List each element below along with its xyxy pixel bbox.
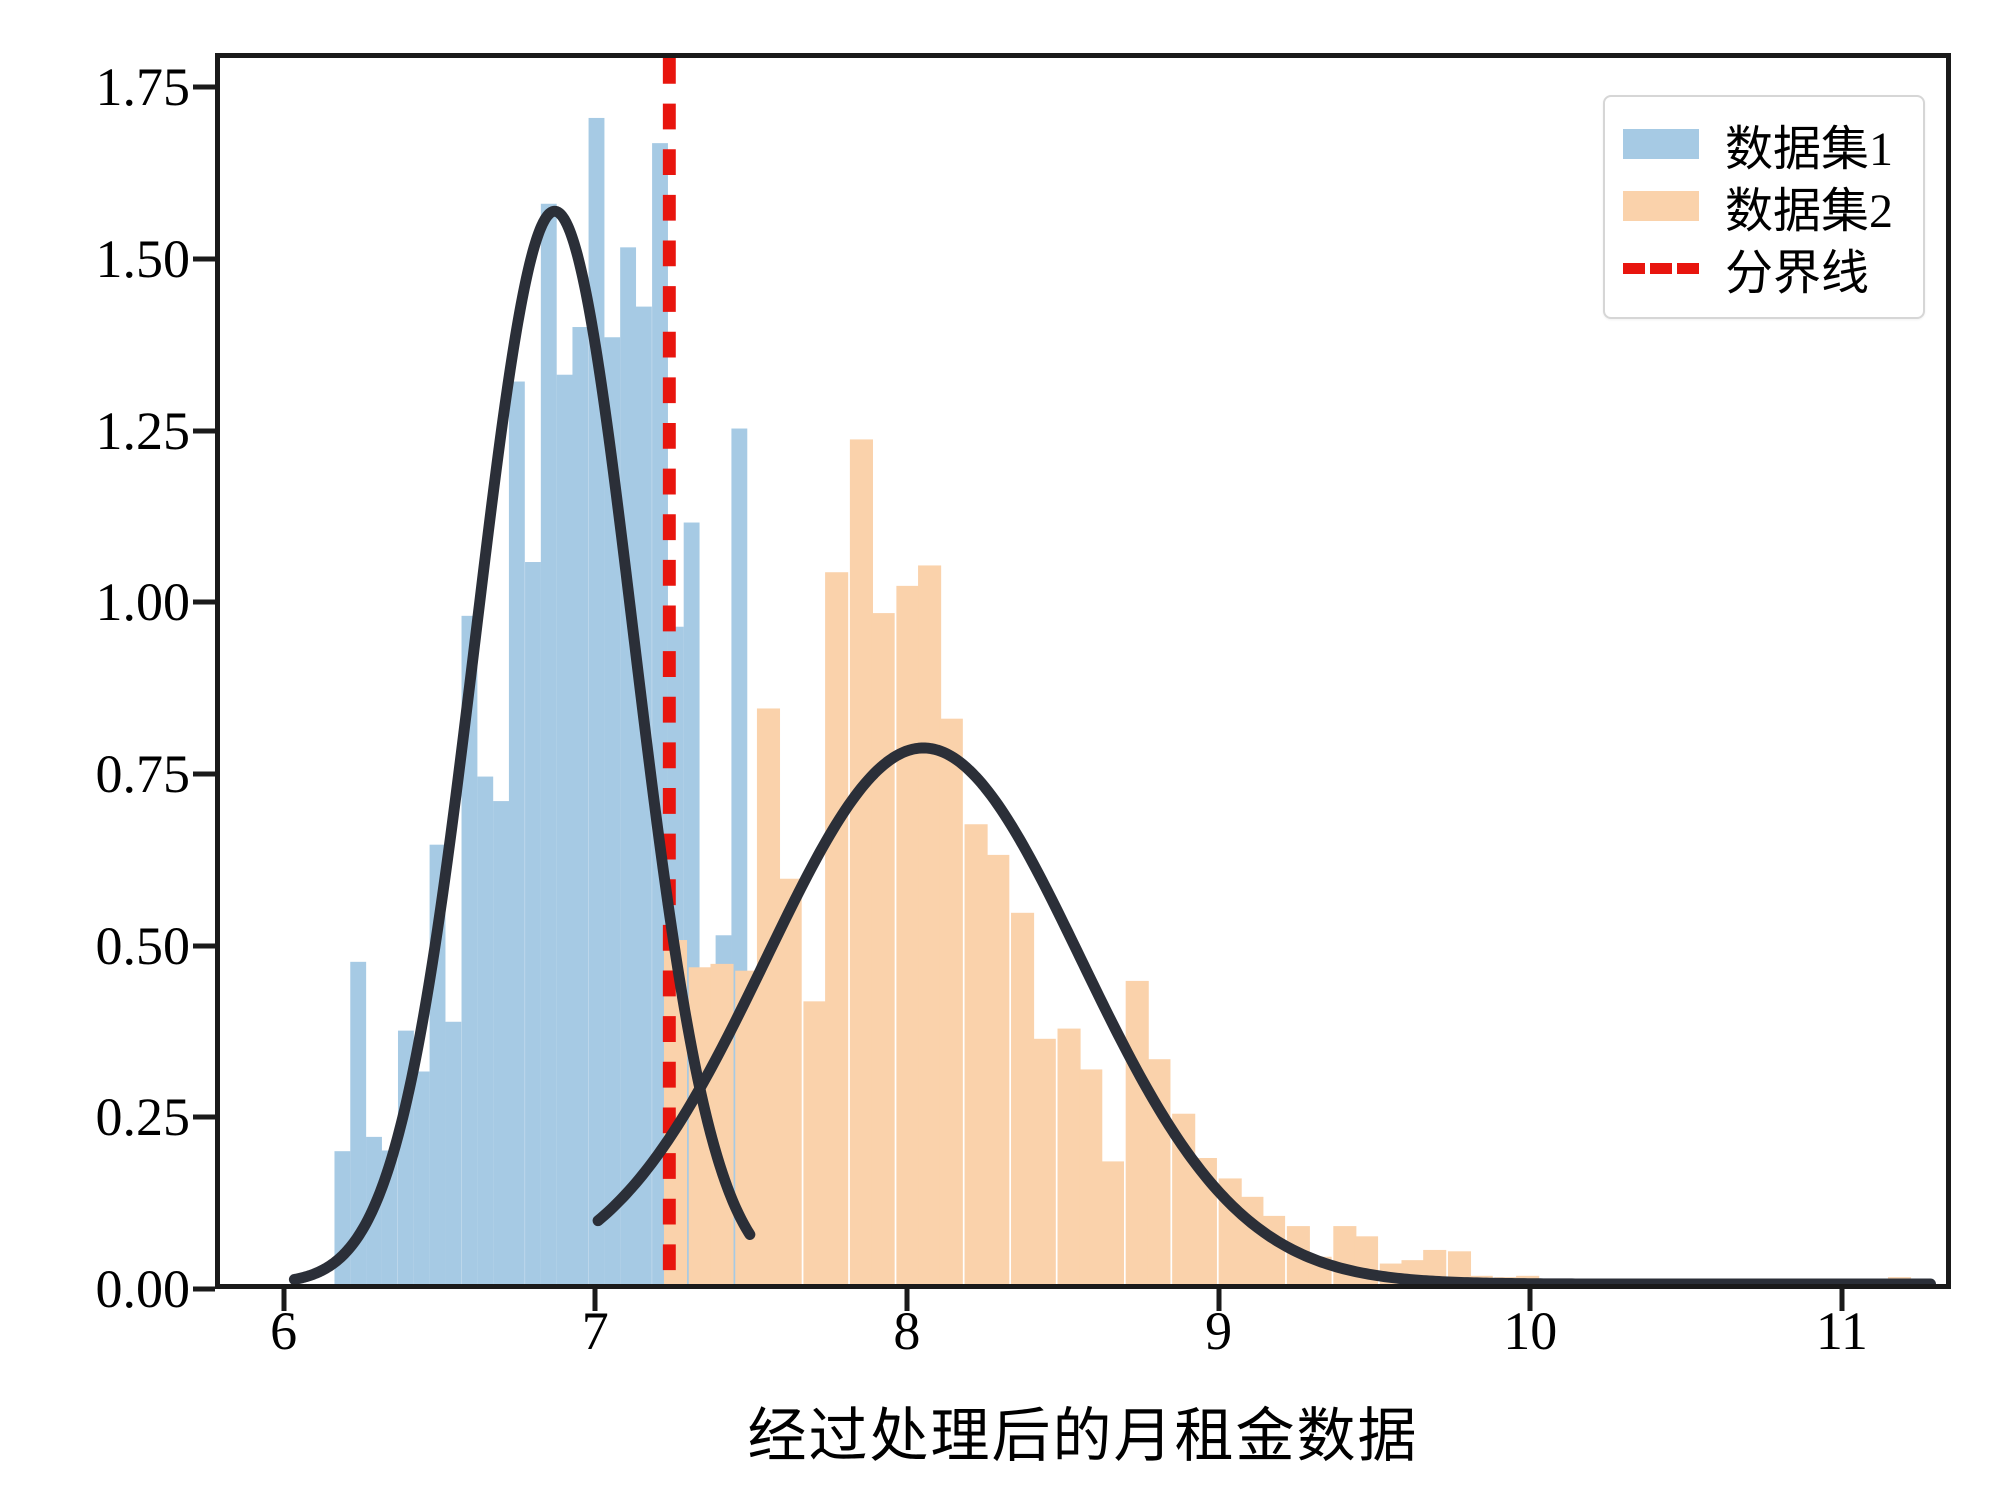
y-tick-mark xyxy=(193,1287,215,1292)
histogram-bar xyxy=(1058,1029,1081,1284)
legend-label-dataset1: 数据集1 xyxy=(1725,109,1893,179)
y-tick-mark xyxy=(193,85,215,90)
histogram-bar xyxy=(557,375,573,1284)
y-tick-mark xyxy=(193,428,215,433)
x-tick-mark xyxy=(1216,1289,1221,1311)
x-axis-title: 经过处理后的月租金数据 xyxy=(215,1388,1951,1473)
y-tick-label: 1.00 xyxy=(0,571,190,633)
histogram-bar xyxy=(1126,981,1149,1284)
y-tick-mark xyxy=(193,257,215,262)
chart-figure: 核密度估计值 0.000.250.500.751.001.251.501.75 … xyxy=(0,0,2000,1507)
histogram-bar xyxy=(986,855,1009,1284)
histogram-bar xyxy=(896,586,919,1284)
histogram-bar xyxy=(803,1001,826,1284)
legend-item-divider[interactable]: 分界线 xyxy=(1623,237,1905,299)
histogram-bar xyxy=(414,1071,430,1284)
histogram-bar xyxy=(918,565,941,1284)
histogram-bar xyxy=(1011,913,1034,1284)
legend-item-dataset2[interactable]: 数据集2 xyxy=(1623,175,1905,237)
y-tick-label: 0.75 xyxy=(0,743,190,805)
histogram-dataset2 xyxy=(664,439,1911,1284)
histogram-bar xyxy=(445,1022,461,1284)
x-tick-mark xyxy=(1528,1289,1533,1311)
histogram-bar xyxy=(850,439,873,1284)
legend-label-dataset2: 数据集2 xyxy=(1725,171,1893,241)
y-tick-label: 1.75 xyxy=(0,56,190,118)
histogram-bar xyxy=(525,562,541,1284)
histogram-bar xyxy=(1101,1161,1124,1284)
y-tick-label: 0.00 xyxy=(0,1258,190,1320)
histogram-bar xyxy=(872,613,895,1284)
legend-swatch-dataset2 xyxy=(1623,191,1699,221)
histogram-bar xyxy=(509,382,525,1284)
y-tick-label: 0.25 xyxy=(0,1086,190,1148)
y-tick-label: 0.50 xyxy=(0,915,190,977)
y-tick-label: 1.50 xyxy=(0,228,190,290)
histogram-bar xyxy=(477,777,493,1284)
histogram-bar xyxy=(541,204,557,1284)
histogram-bar xyxy=(572,327,588,1284)
y-tick-mark xyxy=(193,1115,215,1120)
x-tick-mark xyxy=(281,1289,286,1311)
histogram-bar xyxy=(940,719,963,1284)
legend-item-dataset1[interactable]: 数据集1 xyxy=(1623,113,1905,175)
histogram-bar xyxy=(779,879,802,1284)
legend-label-divider: 分界线 xyxy=(1725,233,1869,303)
histogram-bar xyxy=(710,964,733,1284)
histogram-bar xyxy=(1079,1069,1102,1284)
histogram-bar xyxy=(965,824,988,1284)
histogram-bar xyxy=(825,572,848,1284)
x-tick-mark xyxy=(904,1289,909,1311)
y-tick-mark xyxy=(193,943,215,948)
legend[interactable]: 数据集1 数据集2 分界线 xyxy=(1603,95,1925,319)
y-tick-mark xyxy=(193,772,215,777)
histogram-bar xyxy=(1033,1039,1056,1284)
x-tick-mark xyxy=(1839,1289,1844,1311)
legend-swatch-divider xyxy=(1623,263,1699,274)
y-tick-mark xyxy=(193,600,215,605)
histogram-bar xyxy=(620,247,636,1284)
y-tick-label: 1.25 xyxy=(0,400,190,462)
histogram-bar xyxy=(757,708,780,1284)
legend-swatch-dataset1 xyxy=(1623,129,1699,159)
x-tick-mark xyxy=(593,1289,598,1311)
histogram-bar xyxy=(493,801,509,1284)
